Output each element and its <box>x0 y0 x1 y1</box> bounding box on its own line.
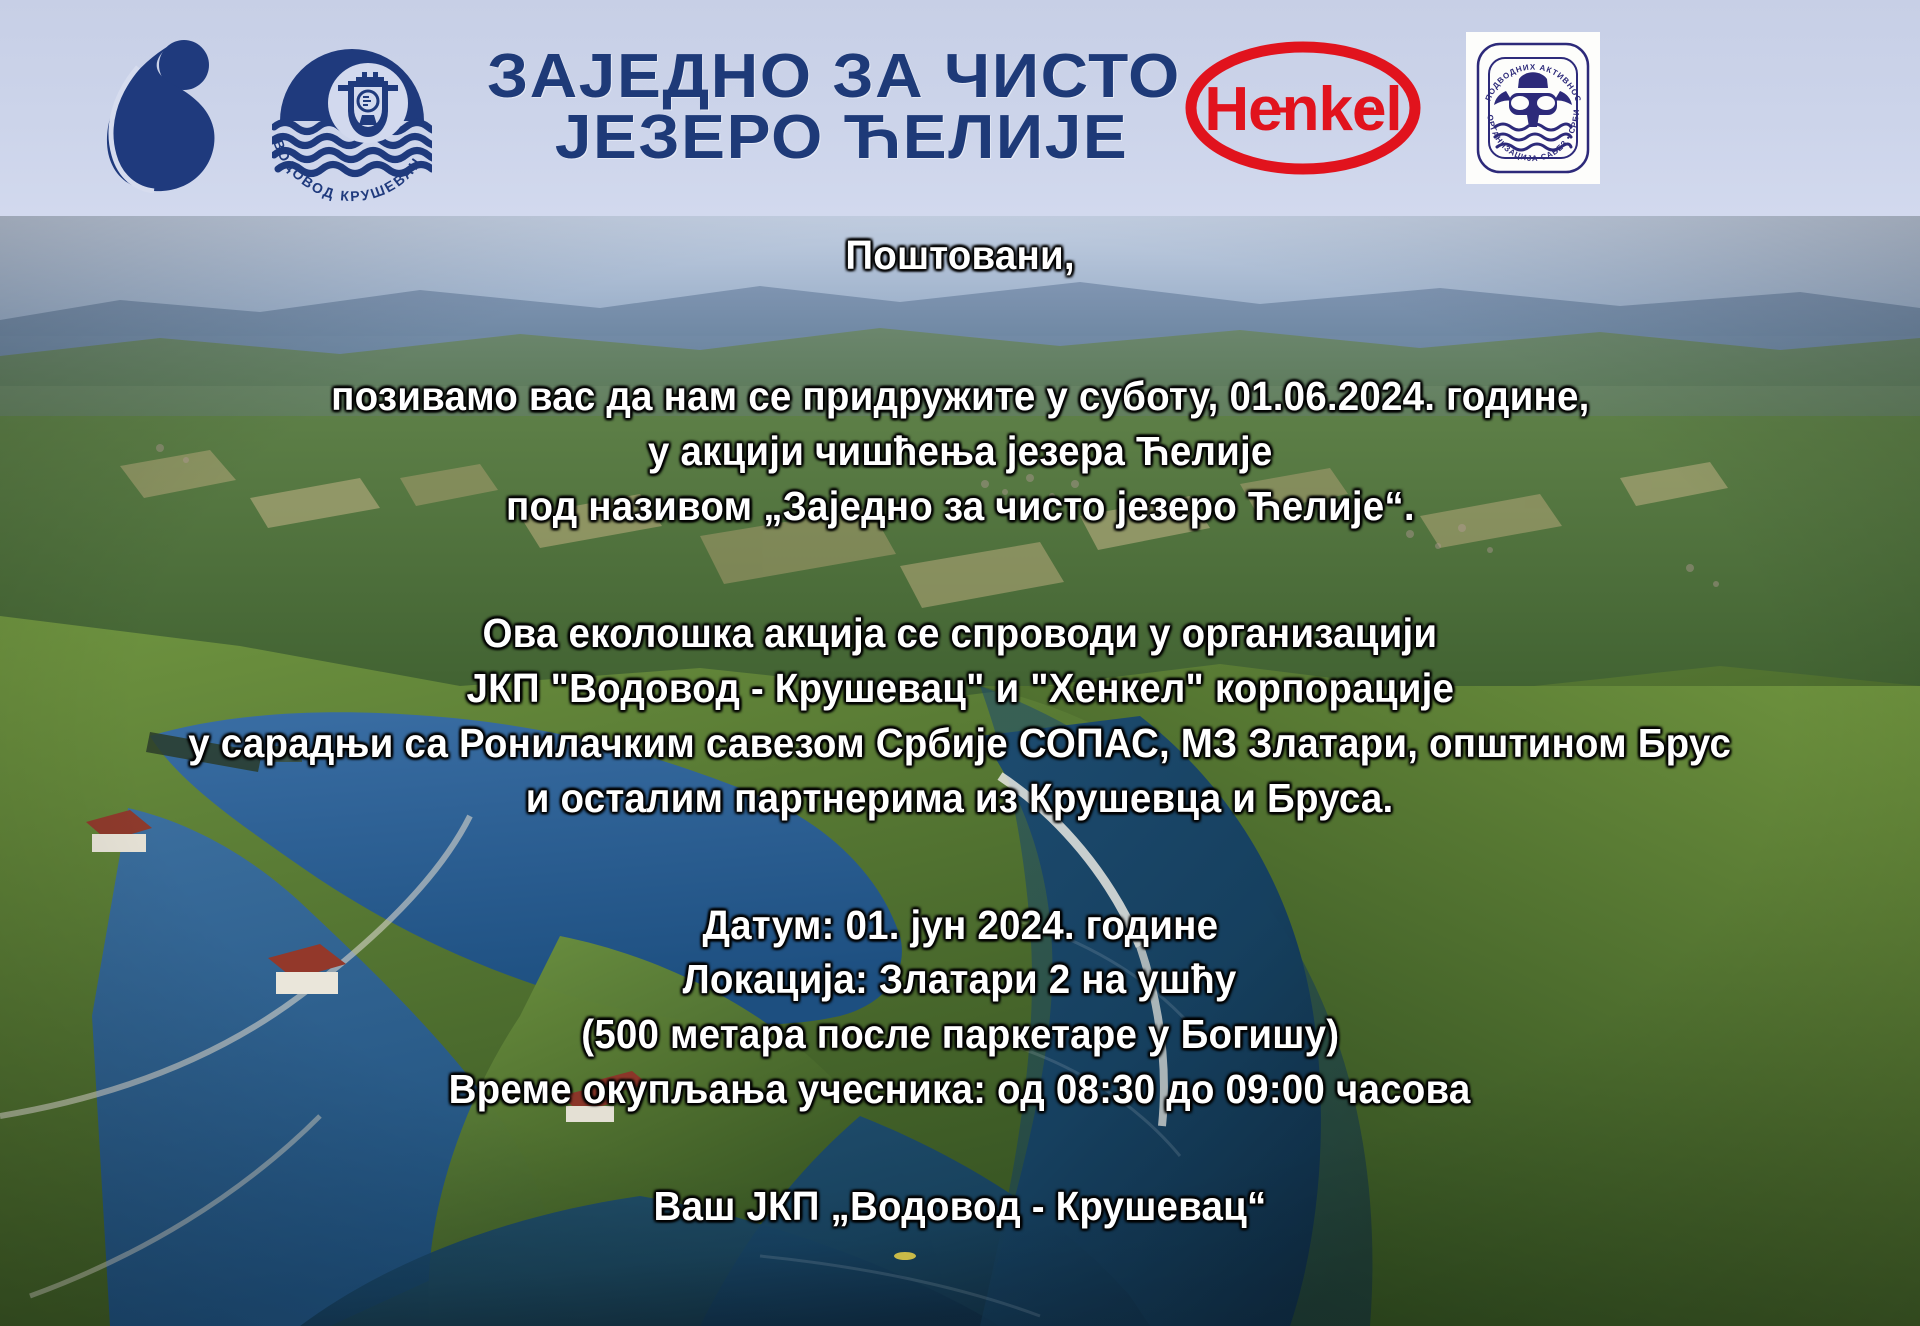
detail-time: Време окупљања учесника: од 08:30 до 09:… <box>449 1062 1471 1117</box>
paragraph2-line-1: Ова еколошка акција се спроводи у органи… <box>483 606 1438 661</box>
detail-date: Датум: 01. јун 2024. године <box>702 898 1218 953</box>
title-line-2: ЈЕЗЕРО ЋЕЛИЈЕ <box>487 108 1181 169</box>
signature: Ваш ЈКП „Водовод - Крушевац“ <box>654 1179 1267 1234</box>
message-body: Поштовани, позивамо вас да нам се придру… <box>0 216 1920 1326</box>
page-title: ЗАЈЕДНО ЗА ЧИСТО ЈЕЗЕРО ЋЕЛИЈЕ <box>487 47 1181 169</box>
detail-location: Локација: Златари 2 на ушћу <box>683 952 1237 1007</box>
paragraph2-line-4: и осталим партнерима из Крушевца и Бруса… <box>526 771 1394 826</box>
poster-root: ВОДОВОД КРУШЕВАЦ ЗАЈЕДНО ЗА ЧИСТО ЈЕЗЕРО… <box>0 0 1920 1326</box>
header-band: ВОДОВОД КРУШЕВАЦ ЗАЈЕДНО ЗА ЧИСТО ЈЕЗЕРО… <box>0 0 1920 216</box>
droplet-logo <box>0 23 228 193</box>
sopas-logo: ПОДВОДНИХ АКТИВНОСТИ РЕПУБЛ ОРГАНИЗАЦИЈА… <box>1466 32 1600 184</box>
henkel-logo: Henkel <box>1142 38 1428 178</box>
salutation: Поштовани, <box>845 228 1074 283</box>
paragraph1-line-2: у акцији чишћења језера Ћелије <box>648 424 1273 479</box>
paragraph1-line-3: под називом „Заједно за чисто језеро Ћел… <box>506 479 1415 534</box>
vodovod-krusevac-logo: ВОДОВОД КРУШЕВАЦ <box>228 11 455 206</box>
detail-location-note: (500 метара после паркетаре у Богишу) <box>581 1007 1339 1062</box>
paragraph2-line-2: ЈКП "Водовод - Крушевац" и "Хенкел" корп… <box>466 661 1454 716</box>
paragraph1-line-1: позивамо вас да нам се придружите у субо… <box>331 369 1589 424</box>
paragraph2-line-3: у сарадњи са Ронилачким савезом Србије С… <box>189 716 1732 771</box>
title-line-1: ЗАЈЕДНО ЗА ЧИСТО <box>487 47 1181 108</box>
